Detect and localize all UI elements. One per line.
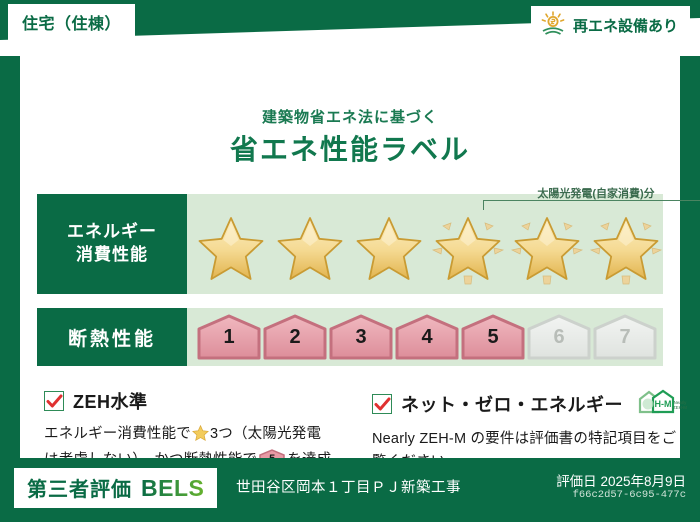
insulation-grade-4: 4 bbox=[395, 314, 459, 360]
star-rating bbox=[193, 194, 663, 294]
energy-label-line1: エネルギー bbox=[67, 221, 157, 244]
check-icon bbox=[372, 394, 392, 414]
criteria-right-title: ネット・ゼロ・エネルギー bbox=[401, 391, 623, 417]
star-6 bbox=[588, 213, 664, 285]
project-address: 世田谷区岡本１丁目ＰＪ新築工事 bbox=[236, 476, 461, 497]
insulation-grade-7: 7 bbox=[593, 314, 657, 360]
insulation-grades-area: 1 2 3 4 bbox=[187, 308, 663, 366]
evaluation-date: 評価日 2025年8月9日 bbox=[556, 470, 686, 490]
grade-number: 2 bbox=[263, 327, 327, 347]
title-subtitle: 建築物省エネ法に基づく bbox=[20, 106, 680, 127]
svg-text:H-M: H-M bbox=[655, 399, 672, 409]
inline-star-icon bbox=[192, 425, 209, 449]
criteria-right-header: ネット・ゼロ・エネルギー H-M Nearly ZEH-M bbox=[372, 388, 682, 419]
insulation-grade-3: 3 bbox=[329, 314, 393, 360]
insulation-grade-1: 1 bbox=[197, 314, 261, 360]
building-type-label: 住宅（住棟） bbox=[22, 16, 121, 33]
grade-number: 5 bbox=[461, 327, 525, 347]
renewable-energy-label: 再エネ設備あり bbox=[573, 15, 678, 36]
criteria-left-text-2: 3つ（太陽光発電 bbox=[210, 426, 321, 442]
page-title: 省エネ性能ラベル bbox=[20, 128, 680, 168]
sun-solar-icon bbox=[540, 11, 566, 40]
energy-performance-label: エネルギー 消費性能 bbox=[37, 194, 187, 294]
insulation-grade-list: 1 2 3 4 bbox=[197, 308, 657, 366]
svg-text:ZEH-M: ZEH-M bbox=[673, 405, 687, 410]
zeh-m-house-logo: H-M Nearly ZEH-M bbox=[636, 388, 688, 419]
energy-performance-row: エネルギー 消費性能 太陽光発電(自家消費)分 bbox=[37, 194, 663, 294]
insulation-performance-label: 断熱性能 bbox=[37, 308, 187, 366]
grade-number: 4 bbox=[395, 327, 459, 347]
insulation-grade-5: 5 bbox=[461, 314, 525, 360]
footer-bar: 第三者評価 BELS 世田谷区岡本１丁目ＰＪ新築工事 評価日 2025年8月9日… bbox=[0, 458, 700, 522]
grade-number: 6 bbox=[527, 327, 591, 347]
renewable-energy-badge: 再エネ設備あり bbox=[531, 6, 690, 45]
evaluation-id: f66c2d57-6c95-477c bbox=[573, 489, 686, 501]
insulation-grade-6: 6 bbox=[527, 314, 591, 360]
criteria-left-header: ZEH水準 bbox=[44, 388, 354, 414]
insulation-grade-2: 2 bbox=[263, 314, 327, 360]
energy-label-line2: 消費性能 bbox=[76, 244, 148, 267]
criteria-left-title: ZEH水準 bbox=[73, 388, 148, 414]
main-white-panel: 建築物省エネ法に基づく 省エネ性能ラベル エネルギー 消費性能 太陽光発電(自家… bbox=[20, 44, 680, 458]
grade-number: 1 bbox=[197, 327, 261, 347]
insulation-performance-row: 断熱性能 1 2 3 bbox=[37, 308, 663, 366]
bels-en-label: BELS bbox=[141, 475, 204, 502]
grade-number: 3 bbox=[329, 327, 393, 347]
check-icon bbox=[44, 391, 64, 411]
bels-jp-label: 第三者評価 bbox=[27, 473, 132, 502]
criteria-left-text-1: エネルギー消費性能で bbox=[44, 426, 191, 442]
star-4 bbox=[430, 213, 506, 285]
building-type-badge: 住宅（住棟） bbox=[8, 4, 135, 41]
grade-number: 7 bbox=[593, 327, 657, 347]
bels-energy-label: 建築物省エネ法に基づく 省エネ性能ラベル エネルギー 消費性能 太陽光発電(自家… bbox=[0, 0, 700, 522]
bels-badge: 第三者評価 BELS bbox=[14, 468, 217, 508]
star-3 bbox=[351, 213, 427, 285]
star-5 bbox=[509, 213, 585, 285]
star-1 bbox=[193, 213, 269, 285]
energy-stars-area: 太陽光発電(自家消費)分 bbox=[187, 194, 663, 294]
star-2 bbox=[272, 213, 348, 285]
